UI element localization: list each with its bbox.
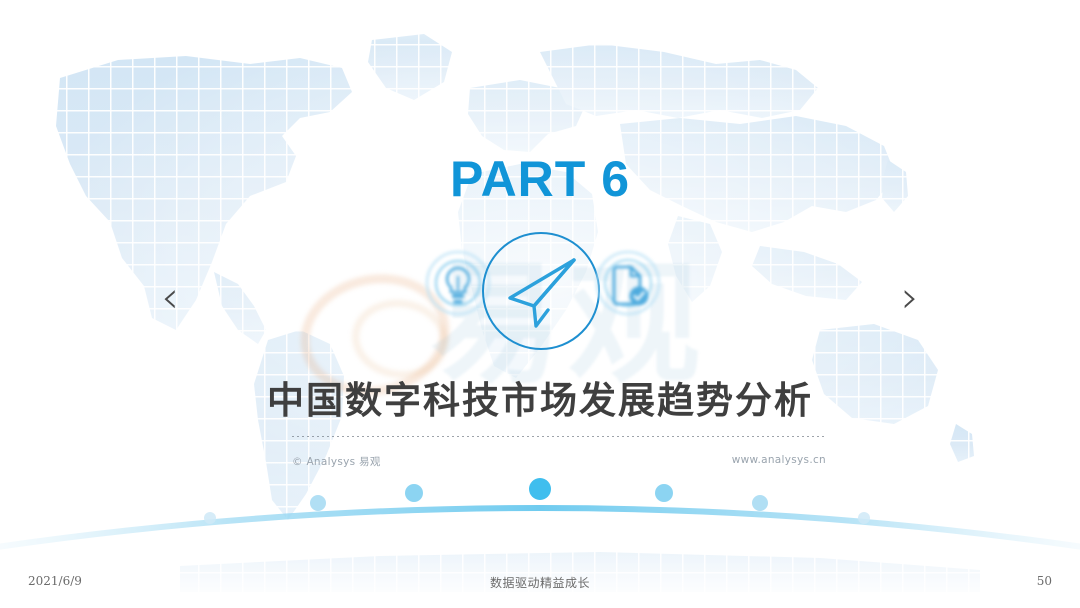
arc-svg bbox=[0, 456, 1080, 556]
arc-dot bbox=[655, 484, 673, 502]
footer-page-number: 50 bbox=[1037, 574, 1052, 588]
arc-dot bbox=[529, 478, 551, 500]
divider-line bbox=[292, 436, 826, 437]
footer-slogan: 数据驱动精益成长 bbox=[0, 574, 1080, 591]
chevron-left-icon[interactable]: ‹ bbox=[148, 272, 192, 328]
arc-dot bbox=[405, 484, 423, 502]
icon-cluster bbox=[415, 232, 665, 352]
paper-plane-icon bbox=[480, 230, 602, 352]
arc-dot bbox=[204, 512, 216, 524]
page-title: 中国数字科技市场发展趋势分析 bbox=[0, 370, 1080, 424]
chevron-right-icon[interactable]: › bbox=[888, 272, 932, 328]
document-check-icon bbox=[593, 248, 663, 318]
arc-dot bbox=[310, 495, 326, 511]
arc-dot bbox=[858, 512, 870, 524]
arc-line bbox=[0, 508, 1080, 548]
arc-dot bbox=[752, 495, 768, 511]
decorative-arc bbox=[0, 456, 1080, 556]
part-label: PART 6 bbox=[0, 150, 1080, 208]
slide-canvas: 易观 ‹ › PART 6 bbox=[0, 0, 1080, 608]
